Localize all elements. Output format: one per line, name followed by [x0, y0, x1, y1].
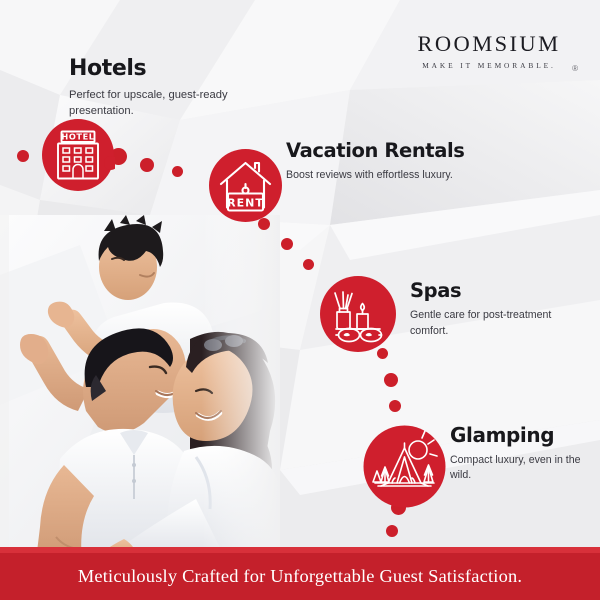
feature-title: Glamping: [450, 425, 598, 446]
trail-dot: [389, 400, 401, 412]
logo-tagline: MAKE IT MEMORABLE.: [404, 61, 574, 70]
trail-dot: [303, 259, 314, 270]
house-rent-sign-icon[interactable]: RENT: [208, 148, 283, 223]
trail-dot: [172, 166, 183, 177]
tent-camping-icon[interactable]: [362, 424, 447, 509]
hotel-building-icon[interactable]: HOTEL: [41, 118, 115, 192]
bottom-banner: Meticulously Crafted for Unforgettable G…: [0, 553, 600, 600]
trail-dot: [386, 525, 398, 537]
feature-vacation-rentals: Vacation Rentals Boost reviews with effo…: [286, 141, 506, 184]
feature-description: Boost reviews with effortless luxury.: [286, 168, 506, 183]
feature-title: Vacation Rentals: [286, 141, 506, 161]
feature-glamping: Glamping Compact luxury, even in the wil…: [450, 425, 598, 484]
feature-title: Hotels: [69, 57, 234, 80]
feature-description: Perfect for upscale, guest-ready present…: [69, 87, 234, 119]
svg-text:HOTEL: HOTEL: [61, 132, 94, 142]
svg-text:RENT: RENT: [227, 197, 264, 210]
feature-title: Spas: [410, 281, 570, 301]
infographic-canvas: ROOMSIUM ® MAKE IT MEMORABLE. HOTEL: [0, 0, 600, 600]
trail-dot: [17, 150, 29, 162]
feature-hotels: Hotels Perfect for upscale, guest-ready …: [69, 57, 234, 120]
feature-description: Gentle care for post-treatment comfort.: [410, 308, 570, 339]
trail-dot: [281, 238, 293, 250]
logo-wordmark: ROOMSIUM: [418, 33, 561, 56]
feature-description: Compact luxury, even in the wild.: [450, 453, 598, 484]
spa-candle-towels-icon[interactable]: [319, 275, 397, 353]
family-photo: [0, 215, 280, 560]
registered-trademark-icon: ®: [572, 64, 578, 73]
trail-dot: [140, 158, 154, 172]
banner-text: Meticulously Crafted for Unforgettable G…: [78, 566, 522, 587]
brand-logo: ROOMSIUM ® MAKE IT MEMORABLE.: [404, 33, 574, 70]
feature-spas: Spas Gentle care for post-treatment comf…: [410, 281, 570, 339]
trail-dot: [384, 373, 398, 387]
